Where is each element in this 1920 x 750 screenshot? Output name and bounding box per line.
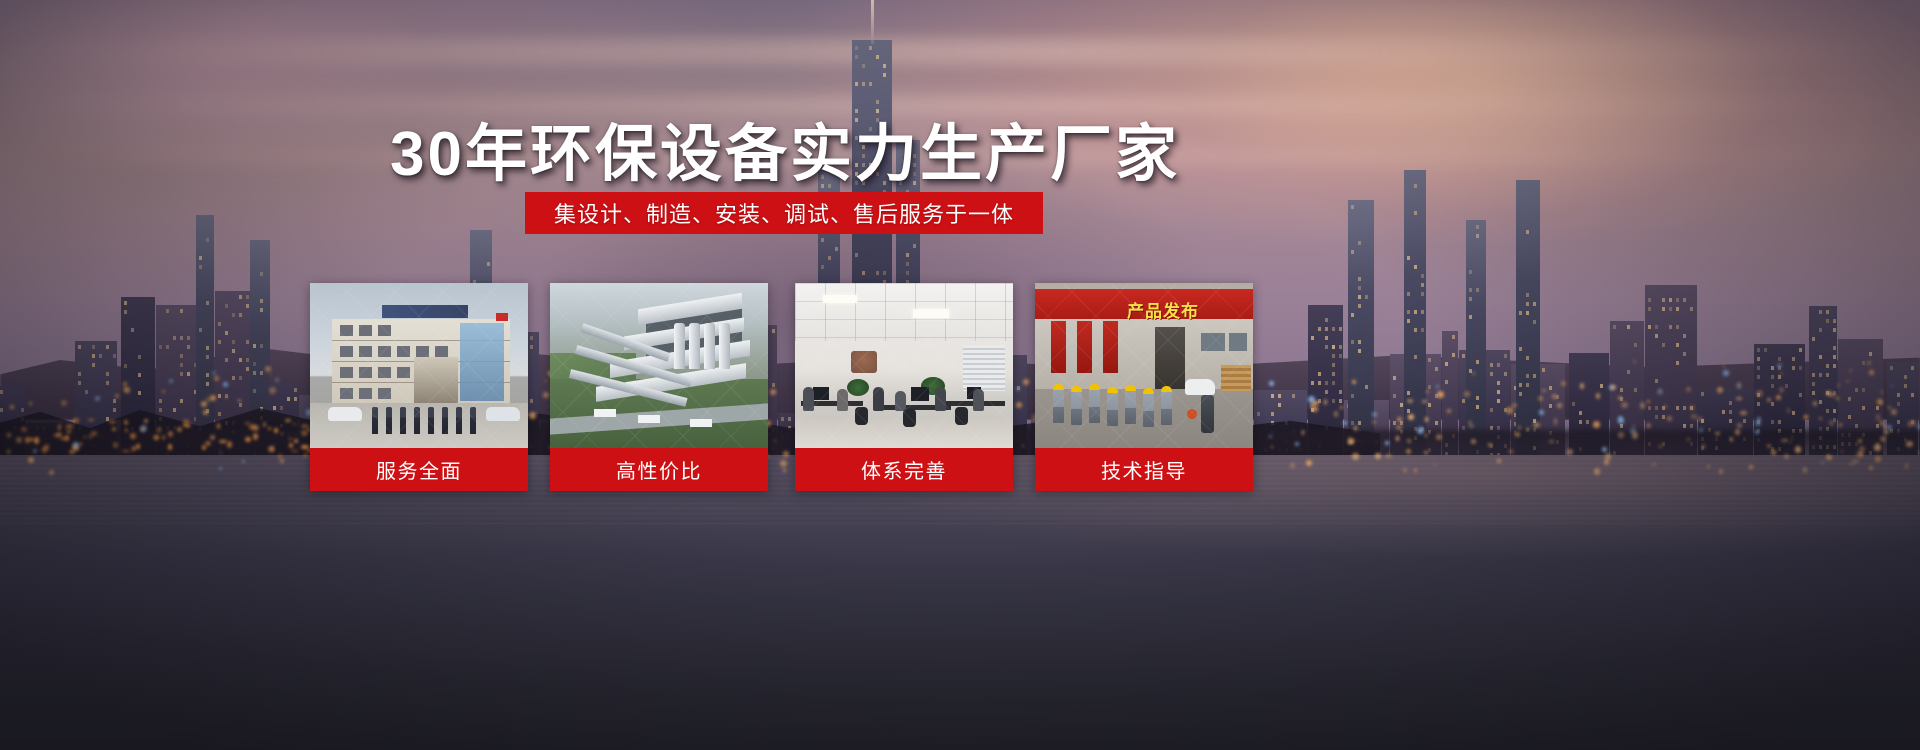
card-caption-bar: 高性价比 [550,448,768,491]
feature-card-list: 服务全面 [310,283,1260,493]
banner-subtitle-bar: 集设计、制造、安装、调试、售后服务于一体 [525,192,1043,234]
card-caption-bar: 技术指导 [1035,448,1253,491]
banner-headline: 30年环保设备实力生产厂家 [0,103,1570,193]
card-photo-workshop-training: 产品发布 [1035,283,1253,448]
workshop-banner-text: 产品发布 [1127,297,1199,322]
workshop-red-banner: 产品发布 [1035,289,1253,319]
feature-card-value[interactable]: 高性价比 [550,283,768,491]
feature-card-guidance[interactable]: 产品发布 [1035,283,1253,491]
card-caption-bar: 体系完善 [795,448,1013,491]
feature-card-service[interactable]: 服务全面 [310,283,528,491]
card-caption-text: 体系完善 [861,455,947,484]
card-caption-text: 高性价比 [616,455,702,484]
hero-banner: 30年环保设备实力生产厂家 集设计、制造、安装、调试、售后服务于一体 [0,0,1920,750]
building-sign [382,305,468,318]
banner-content: 30年环保设备实力生产厂家 集设计、制造、安装、调试、售后服务于一体 [0,0,1920,750]
feature-card-system[interactable]: 体系完善 [795,283,1013,491]
card-photo-office-building [310,283,528,448]
card-photo-office-interior [795,283,1013,448]
card-photo-plant-aerial [550,283,768,448]
card-caption-text: 技术指导 [1101,455,1187,484]
card-caption-text: 服务全面 [376,455,462,484]
banner-subtitle-text: 集设计、制造、安装、调试、售后服务于一体 [554,197,1014,229]
card-caption-bar: 服务全面 [310,448,528,491]
